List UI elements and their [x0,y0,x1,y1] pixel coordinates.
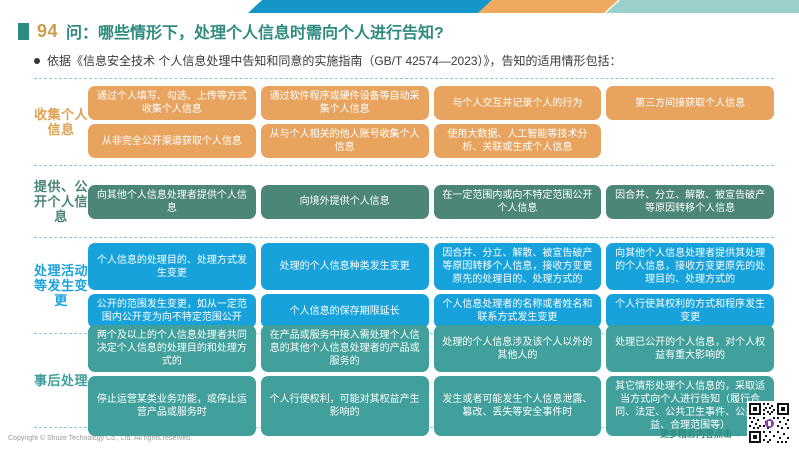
scenario-pill[interactable]: 因合并、分立、解散、被宣告破产等原因转移个人信息 [606,185,774,219]
scenario-pill[interactable]: 处理的个人信息种类发生变更 [261,243,429,290]
question-number: 94 [37,21,58,42]
bullet-icon [34,58,40,64]
scenario-pill[interactable]: 从与个人相关的他人账号收集个人信息 [261,124,429,158]
qr-code-icon[interactable] [747,401,791,445]
more-content-link[interactable]: 更多精彩内容点击→ [660,427,741,440]
topbar-orange-chevron [478,0,618,13]
scenario-pill[interactable]: 处理的个人信息涉及该个人以外的其他人的 [434,325,602,372]
scenario-pill[interactable]: 向境外提供个人信息 [261,185,429,219]
top-decorative-bar [0,0,799,13]
band-change: 处理活动等发生变更 个人信息的处理目的、处理方式发生变更 处理的个人信息种类发生… [34,238,774,334]
topbar-teal-chevron [606,0,799,13]
scenario-pill[interactable]: 两个及以上的个人信息处理者共同决定个人信息的处理目的和处理方式的 [88,325,256,372]
scenario-pill[interactable]: 向其他个人信息处理者提供个人信息 [88,185,256,219]
copyright-text: Copyright © Shuze Technology Co., Ltd. A… [8,435,192,442]
band-label-collect: 收集个人信息 [34,79,88,165]
scenario-pill[interactable]: 因合并、分立、解散、被宣告破产等原因转移个人信息，接收方变更原先的处理目的、处理… [434,243,602,290]
header-marker-icon [18,23,29,40]
scenario-pill[interactable]: 公开的范围发生变更，如从一定范围内公开变为向不特定范围公开 [88,294,256,328]
cell-row: 两个及以上的个人信息处理者共同决定个人信息的处理目的和处理方式的 在产品或服务中… [88,325,774,372]
band-cells-provide: 向其他个人信息处理者提供个人信息 向境外提供个人信息 在一定范围内或向不特定范围… [88,166,774,237]
band-cells-change: 个人信息的处理目的、处理方式发生变更 处理的个人信息种类发生变更 因合并、分立、… [88,238,774,333]
page-title: 问：哪些情形下，处理个人信息时需向个人进行告知? [66,19,444,43]
scenario-pill[interactable]: 通过软件程序或硬件设备等自动采集个人信息 [261,86,429,120]
band-cells-collect: 通过个人填写、勾选、上传等方式收集个人信息 通过软件程序或硬件设备等自动采集个人… [88,79,774,165]
scenario-pill[interactable]: 通过个人填写、勾选、上传等方式收集个人信息 [88,86,256,120]
band-label-after: 事后处理 [34,334,88,427]
scenario-pill[interactable]: 个人行使权利，可能对其权益产生影响的 [261,376,429,436]
scenario-pill[interactable]: 停止运营某类业务功能，或停止运营产品或服务时 [88,376,256,436]
cell-row: 向其他个人信息处理者提供个人信息 向境外提供个人信息 在一定范围内或向不特定范围… [88,185,774,219]
scenario-pill[interactable]: 在产品或服务中接入需处理个人信息的其他个人信息处理者的产品或服务的 [261,325,429,372]
scenario-pill[interactable]: 第三方间接获取个人信息 [606,86,774,120]
scenarios-matrix: 收集个人信息 通过个人填写、勾选、上传等方式收集个人信息 通过软件程序或硬件设备… [34,78,774,430]
scenario-pill-empty [606,124,774,158]
scenario-pill[interactable]: 个人信息的保存期限延长 [261,294,429,328]
subtitle: 依据《信息安全技术 个人信息处理中告知和同意的实施指南（GB/T 42574—2… [34,52,622,69]
scenario-pill[interactable]: 与个人交互并记录个人的行为 [434,86,602,120]
band-label-change: 处理活动等发生变更 [34,238,88,333]
band-collect: 收集个人信息 通过个人填写、勾选、上传等方式收集个人信息 通过软件程序或硬件设备… [34,78,774,166]
cell-row: 从非完全公开渠道获取个人信息 从与个人相关的他人账号收集个人信息 使用大数据、人… [88,124,774,158]
scenario-pill[interactable]: 从非完全公开渠道获取个人信息 [88,124,256,158]
subtitle-text: 依据《信息安全技术 个人信息处理中告知和同意的实施指南（GB/T 42574—2… [47,52,622,69]
scenario-pill[interactable]: 使用大数据、人工智能等技术分析、关联或生成个人信息 [434,124,602,158]
band-label-provide: 提供、公开个人信息 [34,166,88,237]
scenario-pill[interactable]: 个人行使其权利的方式和程序发生变更 [606,294,774,328]
scenario-pill[interactable]: 向其他个人信息处理者提供其处理的个人信息，接收方变更原先的处理目的、处理方式的 [606,243,774,290]
scenario-pill[interactable]: 发生或者可能发生个人信息泄露、篡改、丢失等安全事件时 [434,376,602,436]
band-provide: 提供、公开个人信息 向其他个人信息处理者提供个人信息 向境外提供个人信息 在一定… [34,166,774,238]
page-header: 94 问：哪些情形下，处理个人信息时需向个人进行告知? [18,19,444,43]
band-after: 事后处理 两个及以上的个人信息处理者共同决定个人信息的处理目的和处理方式的 在产… [34,334,774,428]
scenario-pill[interactable]: 处理已公开的个人信息，对个人权益有重大影响的 [606,325,774,372]
scenario-pill[interactable]: 个人信息的处理目的、处理方式发生变更 [88,243,256,290]
scenario-pill[interactable]: 在一定范围内或向不特定范围公开个人信息 [434,185,602,219]
band-cells-after: 两个及以上的个人信息处理者共同决定个人信息的处理目的和处理方式的 在产品或服务中… [88,334,774,427]
cell-row: 个人信息的处理目的、处理方式发生变更 处理的个人信息种类发生变更 因合并、分立、… [88,243,774,290]
scenario-pill[interactable]: 个人信息处理者的名称或者姓名和联系方式发生变更 [434,294,602,328]
topbar-blue-chevron [248,0,492,13]
cell-row: 通过个人填写、勾选、上传等方式收集个人信息 通过软件程序或硬件设备等自动采集个人… [88,86,774,120]
cell-row: 公开的范围发生变更，如从一定范围内公开变为向不特定范围公开 个人信息的保存期限延… [88,294,774,328]
